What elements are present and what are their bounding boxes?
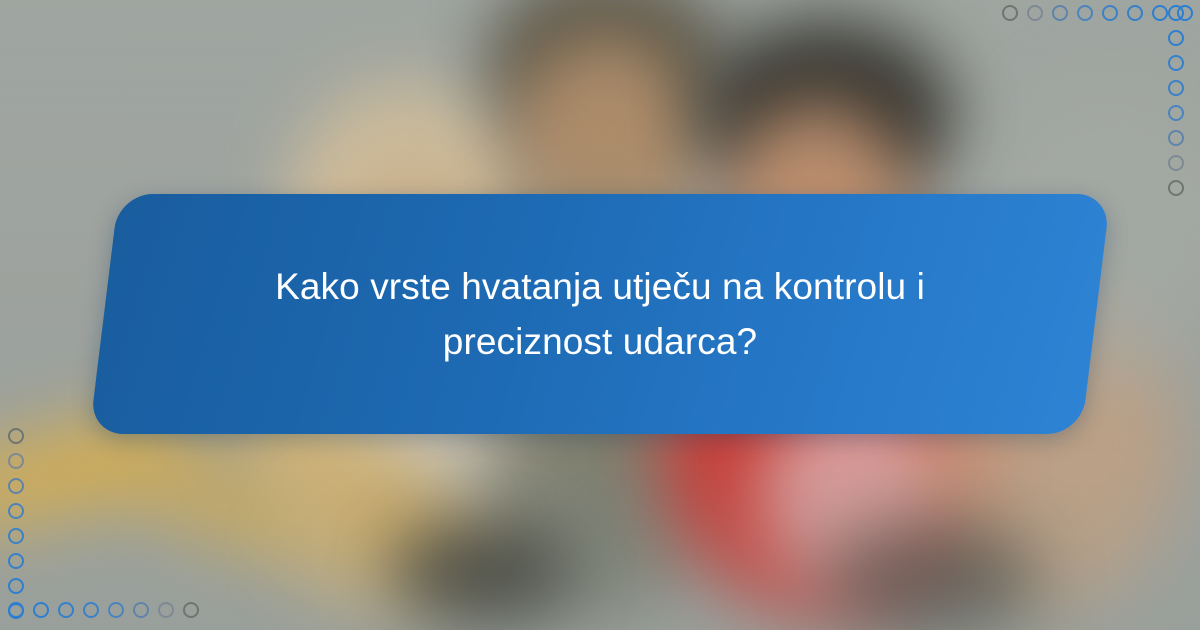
decorative-dot-icon — [58, 602, 74, 618]
dot-cluster-right-column — [1168, 5, 1184, 196]
decorative-dot-icon — [1052, 5, 1068, 21]
decorative-dot-icon — [108, 602, 124, 618]
decorative-dot-icon — [8, 553, 24, 569]
decorative-dot-icon — [1168, 155, 1184, 171]
decorative-dot-icon — [8, 528, 24, 544]
decorative-dot-icon — [8, 478, 24, 494]
decorative-dot-icon — [1168, 130, 1184, 146]
decorative-dot-icon — [1152, 5, 1168, 21]
decorative-dot-icon — [1168, 80, 1184, 96]
decorative-dot-icon — [8, 453, 24, 469]
decorative-dot-icon — [1168, 55, 1184, 71]
decorative-dot-icon — [8, 578, 24, 594]
dot-cluster-left-column — [8, 428, 24, 619]
headline-banner: Kako vrste hvatanja utječu na kontrolu i… — [104, 194, 1096, 434]
decorative-dot-icon — [1168, 105, 1184, 121]
decorative-dot-icon — [1168, 5, 1184, 21]
banner-text-area: Kako vrste hvatanja utječu na kontrolu i… — [104, 194, 1096, 434]
decorative-dot-icon — [8, 428, 24, 444]
decorative-dot-icon — [33, 602, 49, 618]
share-card: Kako vrste hvatanja utječu na kontrolu i… — [0, 0, 1200, 630]
dot-cluster-bottom-left — [8, 602, 199, 618]
decorative-dot-icon — [1102, 5, 1118, 21]
page-title: Kako vrste hvatanja utječu na kontrolu i… — [240, 259, 960, 370]
decorative-dot-icon — [1127, 5, 1143, 21]
decorative-dot-icon — [1077, 5, 1093, 21]
decorative-dot-icon — [1027, 5, 1043, 21]
decorative-dot-icon — [1168, 30, 1184, 46]
decorative-dot-icon — [1002, 5, 1018, 21]
decorative-dot-icon — [158, 602, 174, 618]
decorative-dot-icon — [133, 602, 149, 618]
decorative-dot-icon — [83, 602, 99, 618]
decorative-dot-icon — [183, 602, 199, 618]
decorative-dot-icon — [8, 503, 24, 519]
decorative-dot-icon — [1168, 180, 1184, 196]
decorative-dot-icon — [8, 602, 24, 618]
dot-cluster-top-right — [1002, 5, 1193, 21]
